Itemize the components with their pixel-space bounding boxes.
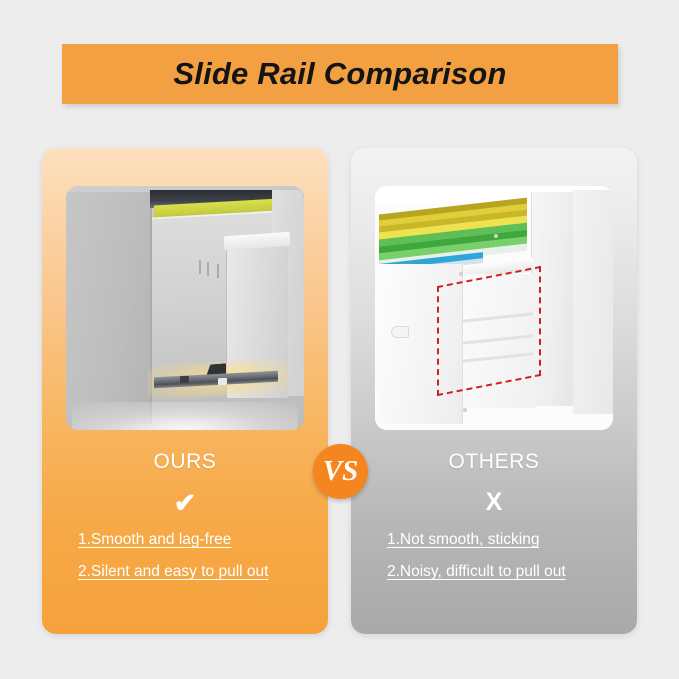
card-label-others: OTHERS (351, 450, 637, 474)
comparison-card-others: OTHERS X 1.Not smooth, sticking 2.Noisy,… (351, 148, 637, 634)
cross-mark-icon: X (351, 490, 637, 515)
product-photo-others (375, 186, 613, 430)
list-item: 1.Not smooth, sticking (387, 530, 627, 551)
vent-slot (217, 264, 219, 278)
bottom-glow (72, 402, 298, 430)
list-item: 2.Silent and easy to pull out (78, 562, 318, 583)
red-dashed-callout (437, 266, 541, 396)
benefit-list-ours: 1.Smooth and lag-free 2.Silent and easy … (78, 530, 318, 594)
screw-icon (463, 408, 467, 412)
vs-badge: VS (313, 444, 368, 499)
screw-icon (459, 272, 463, 276)
screw-icon (494, 234, 498, 238)
card-label-ours: OURS (42, 450, 328, 474)
page-title: Slide Rail Comparison (173, 56, 506, 92)
comparison-card-ours: OURS ✔ 1.Smooth and lag-free 2.Silent an… (42, 148, 328, 634)
list-item: 2.Noisy, difficult to pull out (387, 562, 627, 583)
vent-slot (207, 262, 209, 276)
drawback-list-others: 1.Not smooth, sticking 2.Noisy, difficul… (387, 530, 627, 594)
vs-label: VS (323, 457, 358, 486)
vent-slot (199, 260, 201, 274)
check-mark-icon: ✔ (42, 490, 328, 517)
cabinet-back-panel (573, 190, 613, 414)
cabinet-left-panel (66, 192, 152, 424)
title-banner: Slide Rail Comparison (62, 44, 618, 104)
rail-fitting (218, 378, 227, 385)
list-item: 1.Smooth and lag-free (78, 530, 318, 551)
rail-fitting (180, 376, 189, 383)
door-handle (391, 326, 409, 338)
product-photo-ours (66, 186, 304, 430)
